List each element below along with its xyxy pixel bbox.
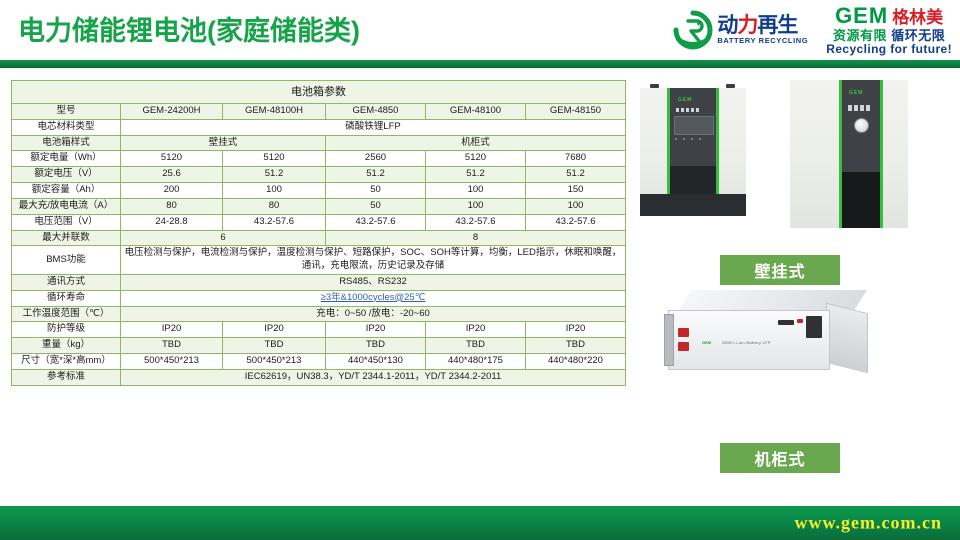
row-label: 参考标准: [12, 369, 121, 385]
table-row: 循环寿命≥3年&1000cycles@25℃: [12, 290, 626, 306]
table-cell: GEM-24200H: [121, 104, 223, 120]
table-cell: 24-28.8: [121, 214, 223, 230]
gem-cn-name: 格林美: [892, 9, 943, 26]
row-label: 重量（kg）: [12, 338, 121, 354]
battery-spec-table: 电池箱参数型号GEM-24200HGEM-48100HGEM-4850GEM-4…: [11, 80, 626, 386]
table-row: 额定电量（Wh）51205120256051207680: [12, 151, 626, 167]
table-cell: 2560: [326, 151, 426, 167]
cycle-life-link[interactable]: ≥3年&1000cycles@25℃: [321, 292, 426, 303]
table-cell: TBD: [526, 338, 626, 354]
table-cell: 440*480*220: [526, 354, 626, 370]
table-cell: 51.2: [326, 167, 426, 183]
recycling-arrows-icon: [672, 9, 714, 51]
table-cell: GEM-48100: [426, 104, 526, 120]
table-cell: IEC62619，UN38.3，YD/T 2344.1-2011，YD/T 23…: [121, 369, 626, 385]
table-cell: 440*480*175: [426, 354, 526, 370]
table-row: 防护等级IP20IP20IP20IP20IP20: [12, 322, 626, 338]
product-photo-rack-module: GEM GEM Li-ion Battery LFP: [660, 290, 898, 394]
table-cell: 磷酸铁锂LFP: [121, 119, 626, 135]
logo-gem: GEM 格林美 资源有限 循环无限 Recycling for future!: [822, 5, 952, 55]
led-indicator: [696, 108, 699, 112]
table-cell: GEM-48100H: [223, 104, 326, 120]
row-label: 循环寿命: [12, 290, 121, 306]
dongli-wordmark: 动力再生 BATTERY RECYCLING: [717, 15, 808, 45]
row-label: 通讯方式: [12, 274, 121, 290]
spec-table-body: 电池箱参数型号GEM-24200HGEM-48100HGEM-4850GEM-4…: [12, 81, 626, 386]
row-label: 最大充/放电电流（A）: [12, 198, 121, 214]
rack-model-label: GEM Li-ion Battery LFP: [722, 340, 771, 345]
vent-panel: [842, 172, 880, 228]
button-dot-row: [675, 138, 701, 140]
table-row: 最大充/放电电流（A）808050100100: [12, 198, 626, 214]
row-label: 额定容量（Ah）: [12, 183, 121, 199]
table-cell: ≥3年&1000cycles@25℃: [121, 290, 626, 306]
product-photo-wall-mount-1: GEM: [640, 88, 746, 216]
rack-mount-ear: [664, 314, 674, 366]
table-cell: 100: [223, 183, 326, 199]
table-row: 电压范围（V）24-28.843.2-57.643.2-57.643.2-57.…: [12, 214, 626, 230]
gem-wordmark-row: GEM 格林美: [835, 5, 943, 27]
gem-letters: GEM: [835, 5, 888, 27]
footer-website-url[interactable]: www.gem.com.cn: [795, 513, 942, 534]
row-label: 额定电压（V）: [12, 167, 121, 183]
led-indicator: [686, 108, 689, 112]
logo-dongli-zaisheng: 动力再生 BATTERY RECYCLING: [672, 5, 808, 55]
gem-slogan: 资源有限 循环无限: [833, 29, 945, 42]
table-cell: 43.2-57.6: [426, 214, 526, 230]
gem-brand-mark: GEM: [702, 340, 711, 345]
power-connector: [806, 316, 822, 338]
table-cell: TBD: [326, 338, 426, 354]
table-cell: 440*450*130: [326, 354, 426, 370]
product-gallery: GEM GEM 壁挂式: [632, 80, 952, 490]
row-label: 电池箱样式: [12, 135, 121, 151]
caption-wall-mount: 壁挂式: [720, 255, 840, 285]
table-caption-row: 电池箱参数: [12, 81, 626, 104]
table-cell: 80: [223, 198, 326, 214]
led-indicator: [691, 108, 694, 112]
gem-slogan-en: Recycling for future!: [826, 43, 952, 55]
table-cell: RS485、RS232: [121, 274, 626, 290]
table-caption: 电池箱参数: [12, 81, 626, 104]
logo-area: 动力再生 BATTERY RECYCLING GEM 格林美 资源有限 循环无限…: [672, 4, 952, 56]
dongli-en-text: BATTERY RECYCLING: [717, 37, 808, 45]
header-divider: [0, 60, 960, 68]
table-cell: IP20: [223, 322, 326, 338]
table-cell: 100: [426, 183, 526, 199]
row-label: 额定电量（Wh）: [12, 151, 121, 167]
table-cell: 100: [426, 198, 526, 214]
table-cell: TBD: [223, 338, 326, 354]
table-cell: 150: [526, 183, 626, 199]
comm-port: [778, 320, 794, 325]
table-cell: 5120: [426, 151, 526, 167]
led-indicator: [681, 108, 684, 112]
led-indicator-row: [848, 105, 870, 111]
table-row: 工作温度范围（℃）充电：0~50 /放电：-20~60: [12, 306, 626, 322]
table-cell: 100: [526, 198, 626, 214]
page-header: 电力储能锂电池(家庭储能类) 动力再生 BATTERY RECYCLING GE…: [0, 0, 960, 60]
row-label: 电芯材料类型: [12, 119, 121, 135]
gem-brand-mark: GEM: [678, 97, 692, 103]
led-indicator-row: [676, 108, 699, 112]
led-indicator: [676, 108, 679, 112]
row-label: 型号: [12, 104, 121, 120]
table-cell: 7680: [526, 151, 626, 167]
table-cell: 200: [121, 183, 223, 199]
negative-terminal: [678, 342, 689, 351]
table-row: 最大并联数68: [12, 230, 626, 246]
table-cell: 6: [121, 230, 326, 246]
table-cell: TBD: [426, 338, 526, 354]
table-cell: GEM-48150: [526, 104, 626, 120]
table-cell: 电压检测与保护，电流检测与保护，温度检测与保护、短路保护，SOC、SOH等计算，…: [121, 246, 626, 275]
table-cell: IP20: [121, 322, 223, 338]
table-cell: 充电：0~50 /放电：-20~60: [121, 306, 626, 322]
led-indicator: [848, 105, 852, 111]
table-cell: 5120: [223, 151, 326, 167]
power-button[interactable]: [854, 118, 869, 133]
table-cell: TBD: [121, 338, 223, 354]
led-indicator: [866, 105, 870, 111]
table-cell: 机柜式: [326, 135, 626, 151]
table-cell: GEM-4850: [326, 104, 426, 120]
table-row: 型号GEM-24200HGEM-48100HGEM-4850GEM-48100G…: [12, 104, 626, 120]
dongli-cn-text: 动力再生: [717, 15, 808, 36]
table-cell: IP20: [326, 322, 426, 338]
button-dot: [699, 138, 701, 140]
table-cell: 500*450*213: [121, 354, 223, 370]
product-photo-wall-mount-2: GEM: [790, 80, 908, 228]
table-cell: 50: [326, 183, 426, 199]
table-cell: IP20: [426, 322, 526, 338]
button-dot: [675, 138, 677, 140]
green-stripe-right: [880, 80, 883, 228]
table-cell: 43.2-57.6: [526, 214, 626, 230]
gem-brand-mark: GEM: [849, 90, 863, 96]
table-row: 参考标准IEC62619，UN38.3，YD/T 2344.1-2011，YD/…: [12, 369, 626, 385]
vent-panel: [670, 166, 716, 196]
lcd-display: [674, 116, 714, 135]
row-label: 最大并联数: [12, 230, 121, 246]
table-cell: 51.2: [223, 167, 326, 183]
button-dot: [683, 138, 685, 140]
table-row: 重量（kg）TBDTBDTBDTBDTBD: [12, 338, 626, 354]
table-row: 通讯方式RS485、RS232: [12, 274, 626, 290]
table-cell: 25.6: [121, 167, 223, 183]
row-label: 电压范围（V）: [12, 214, 121, 230]
table-cell: 51.2: [526, 167, 626, 183]
row-label: 防护等级: [12, 322, 121, 338]
led-indicator: [854, 105, 858, 111]
status-led: [797, 319, 803, 323]
table-cell: 51.2: [426, 167, 526, 183]
row-label: 尺寸（宽*深*高mm）: [12, 354, 121, 370]
table-cell: 5120: [121, 151, 223, 167]
table-cell: IP20: [526, 322, 626, 338]
table-row: 尺寸（宽*深*高mm）500*450*213500*450*213440*450…: [12, 354, 626, 370]
table-row: 额定电压（V）25.651.251.251.251.2: [12, 167, 626, 183]
row-label: 工作温度范围（℃）: [12, 306, 121, 322]
table-row: 额定容量（Ah）20010050100150: [12, 183, 626, 199]
table-cell: 80: [121, 198, 223, 214]
table-cell: 43.2-57.6: [223, 214, 326, 230]
table-row: 电芯材料类型磷酸铁锂LFP: [12, 119, 626, 135]
table-cell: 壁挂式: [121, 135, 326, 151]
button-dot: [691, 138, 693, 140]
rack-side-face: [826, 303, 868, 373]
page-footer: www.gem.com.cn: [0, 506, 960, 540]
base-plinth: [640, 194, 746, 216]
table-cell: 50: [326, 198, 426, 214]
row-label: BMS功能: [12, 246, 121, 275]
led-indicator: [860, 105, 864, 111]
table-row: 电池箱样式壁挂式机柜式: [12, 135, 626, 151]
table-cell: 43.2-57.6: [326, 214, 426, 230]
table-row: BMS功能电压检测与保护，电流检测与保护，温度检测与保护、短路保护，SOC、SO…: [12, 246, 626, 275]
page-title: 电力储能锂电池(家庭储能类): [18, 9, 360, 48]
caption-rack-mount: 机柜式: [720, 443, 840, 473]
positive-terminal: [678, 328, 689, 337]
table-cell: 500*450*213: [223, 354, 326, 370]
table-cell: 8: [326, 230, 626, 246]
